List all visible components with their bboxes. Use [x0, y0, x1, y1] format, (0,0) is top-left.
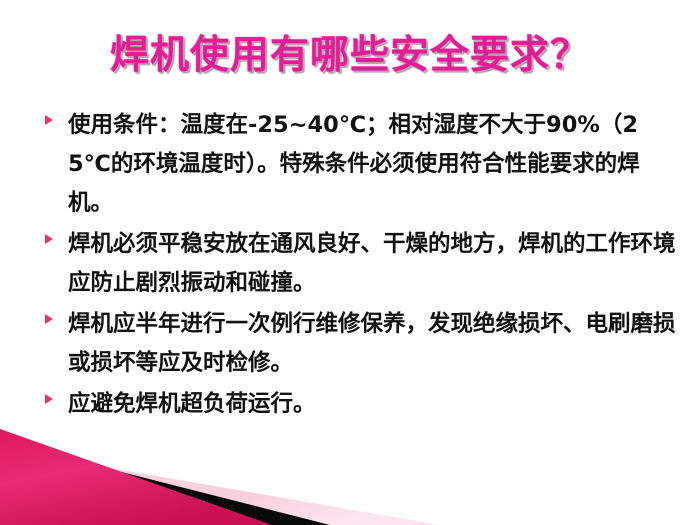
decor-band-lightpink	[0, 449, 440, 525]
title-area: 焊机使用有哪些安全要求？	[0, 34, 700, 79]
bottom-decoration	[0, 415, 700, 525]
slide-canvas: 焊机使用有哪些安全要求？ 使用条件：温度在-25~40℃；相对湿度不大于90%（…	[0, 0, 700, 525]
list-item: 使用条件：温度在-25~40℃；相对湿度不大于90%（25℃的环境温度时）。特殊…	[40, 106, 676, 223]
bullet-list: 使用条件：温度在-25~40℃；相对湿度不大于90%（25℃的环境温度时）。特殊…	[40, 106, 676, 426]
triangle-right-icon	[45, 394, 53, 404]
triangle-right-icon	[45, 314, 53, 324]
list-item: 焊机必须平稳安放在通风良好、干燥的地方，焊机的工作环境应防止剧烈振动和碰撞。	[40, 225, 676, 303]
decor-band-black	[0, 441, 330, 525]
triangle-right-icon	[45, 234, 53, 244]
list-item-label: 使用条件：温度在-25~40℃；相对湿度不大于90%（25℃的环境温度时）。特殊…	[68, 106, 676, 223]
list-item-label: 焊机应半年进行一次例行维修保养，发现绝缘损坏、电刷磨损或损坏等应及时检修。	[68, 305, 676, 383]
triangle-right-icon	[45, 115, 53, 125]
list-item-label: 焊机必须平稳安放在通风良好、干燥的地方，焊机的工作环境应防止剧烈振动和碰撞。	[68, 225, 676, 303]
list-item: 焊机应半年进行一次例行维修保养，发现绝缘损坏、电刷磨损或损坏等应及时检修。	[40, 305, 676, 383]
decor-band-pink	[0, 429, 272, 525]
list-item: 应避免焊机超负荷运行。	[40, 385, 676, 424]
list-item-label: 应避免焊机超负荷运行。	[68, 385, 676, 424]
page-title: 焊机使用有哪些安全要求？	[110, 34, 590, 79]
